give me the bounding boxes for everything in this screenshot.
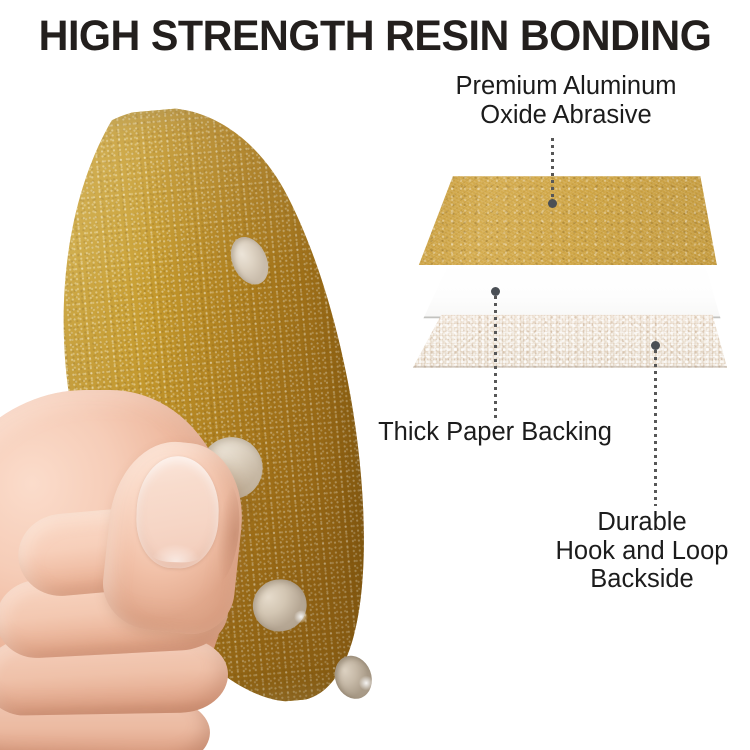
product-infographic: HIGH STRENGTH RESIN BONDING: [0, 0, 750, 750]
abrasive-layer-grain: [405, 170, 735, 266]
leader-line-abrasive: [551, 138, 554, 202]
anchor-dot-abrasive: [548, 199, 557, 208]
thumbnail-highlight: [149, 535, 204, 563]
anchor-dot-paper: [491, 287, 500, 296]
exploded-layer-diagram: [405, 170, 735, 365]
hook-and-loop-layer: [405, 312, 735, 370]
leader-line-hookloop: [654, 350, 657, 506]
thumbnail: [135, 455, 221, 570]
callout-label-abrasive: Premium Aluminum Oxide Abrasive: [400, 72, 732, 129]
callout-label-paper: Thick Paper Backing: [340, 418, 650, 447]
gold-abrasive-layer: [405, 170, 735, 266]
hookloop-layer-edge: [405, 312, 735, 370]
page-title: HIGH STRENGTH RESIN BONDING: [15, 12, 735, 60]
anchor-dot-hookloop: [651, 341, 660, 350]
leader-line-paper: [494, 296, 497, 420]
callout-label-hookloop: Durable Hook and Loop Backside: [530, 508, 750, 594]
